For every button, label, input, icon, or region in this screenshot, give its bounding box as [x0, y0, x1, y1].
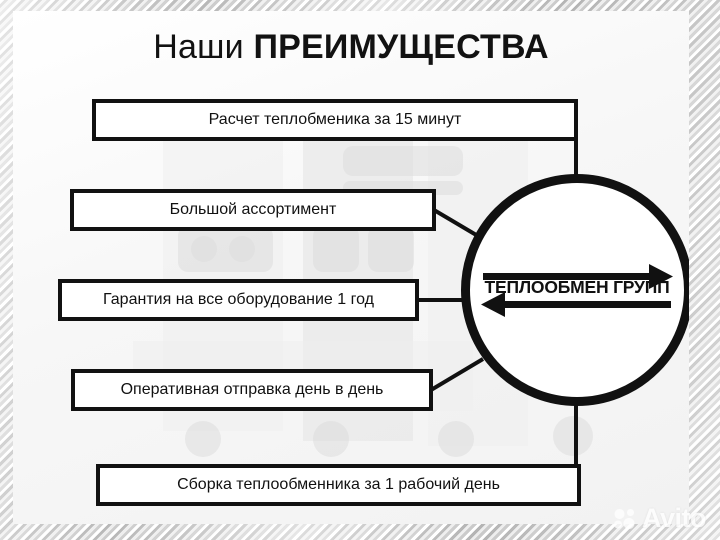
logo-text: ТЕПЛООБМЕН ГРУПП [477, 277, 677, 298]
benefit-box-2[interactable]: Гарантия на все оборудование 1 год [58, 279, 419, 321]
benefit-box-4[interactable]: Сборка теплообменника за 1 рабочий день [96, 464, 581, 506]
benefit-box-1[interactable]: Большой ассортимент [70, 189, 436, 231]
benefit-label-3: Оперативная отправка день в день [121, 381, 384, 399]
benefit-label-0: Расчет теплобменика за 15 минут [209, 111, 462, 129]
benefit-label-1: Большой ассортимент [170, 201, 337, 219]
benefit-label-2: Гарантия на все оборудование 1 год [103, 291, 374, 309]
benefit-box-3[interactable]: Оперативная отправка день в день [71, 369, 433, 411]
slide-card: Наши ПРЕИМУЩЕСТВА Расчет теплобменика за… [13, 11, 689, 524]
benefit-label-4: Сборка теплообменника за 1 рабочий день [177, 476, 500, 494]
company-logo-circle[interactable]: ТЕПЛООБМЕН ГРУПП [461, 174, 689, 406]
benefit-box-0[interactable]: Расчет теплобменика за 15 минут [92, 99, 578, 141]
logo-mark: ТЕПЛООБМЕН ГРУПП [477, 259, 677, 321]
benefits-diagram: Расчет теплобменика за 15 минут Большой … [13, 11, 689, 524]
screenshot-canvas: Наши ПРЕИМУЩЕСТВА Расчет теплобменика за… [0, 0, 720, 540]
